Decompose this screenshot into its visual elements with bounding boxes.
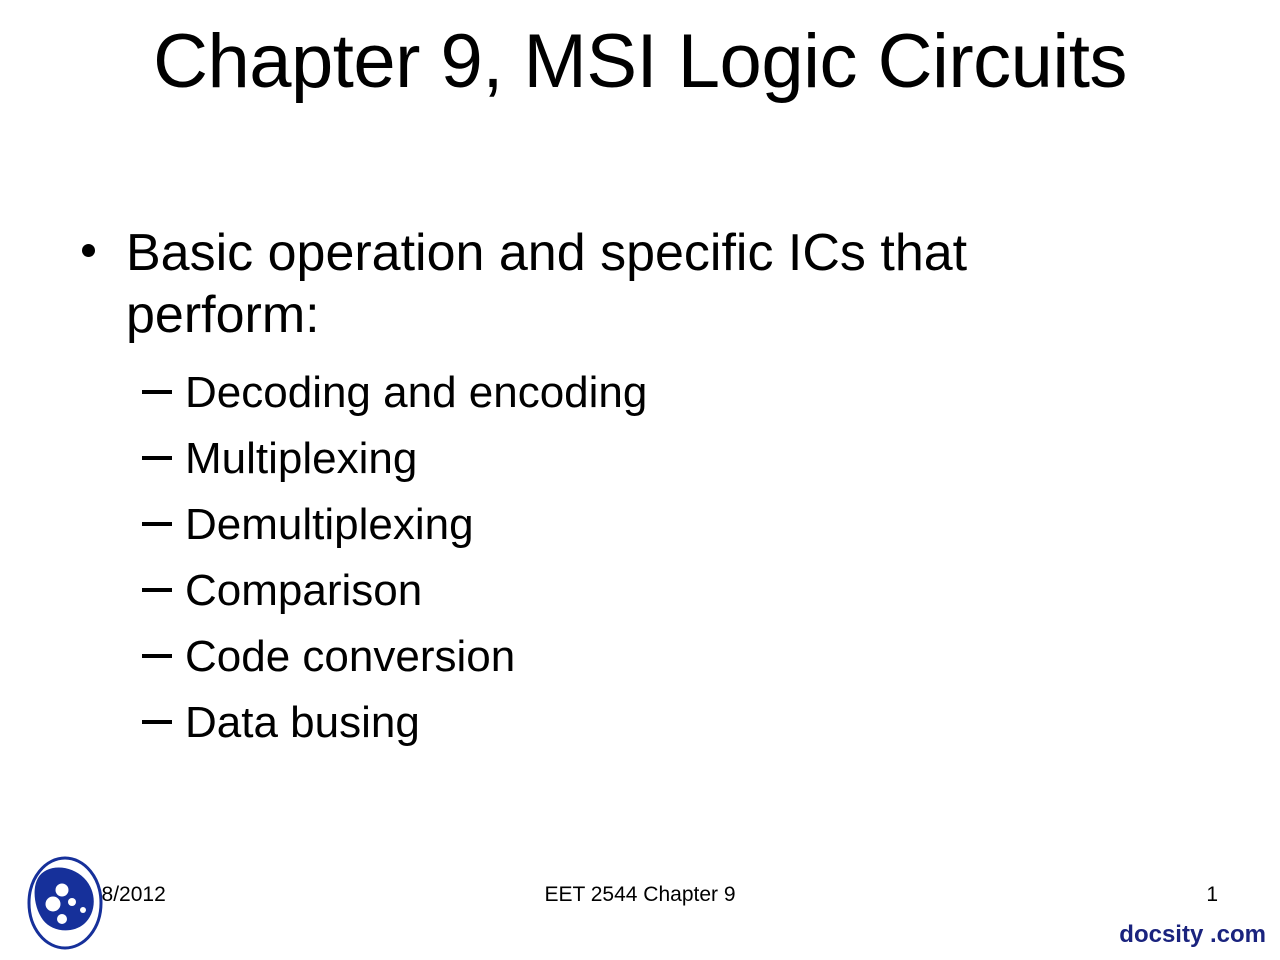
sub-bullet-text: Decoding and encoding	[185, 368, 647, 417]
sub-bullet-text: Demultiplexing	[185, 500, 474, 549]
docsity-watermark: docsity .com	[1119, 920, 1266, 950]
dash-icon	[142, 390, 172, 394]
slide-body: Basic operation and specific ICs that pe…	[68, 222, 1188, 756]
sub-bullet-code-conversion: Code conversion	[68, 624, 1188, 690]
dash-icon	[142, 456, 172, 460]
sub-bullet-text: Comparison	[185, 566, 422, 615]
sub-bullet-decoding: Decoding and encoding	[68, 360, 1188, 426]
footer-page-number: 1	[1206, 880, 1218, 910]
bullet-text: Basic operation and specific ICs that pe…	[126, 224, 967, 344]
sub-bullet-text: Multiplexing	[185, 434, 417, 483]
slide-footer: /18/2012 EET 2544 Chapter 9 1	[0, 880, 1280, 914]
dash-icon	[142, 654, 172, 658]
docsity-logo-icon	[26, 856, 104, 950]
sub-bullet-list: Decoding and encoding Multiplexing Demul…	[68, 360, 1188, 756]
bullet-dot-icon	[82, 244, 95, 257]
footer-course-label: EET 2544 Chapter 9	[0, 880, 1280, 910]
sub-bullet-text: Data busing	[185, 698, 420, 747]
dash-icon	[142, 588, 172, 592]
sub-bullet-multiplexing: Multiplexing	[68, 426, 1188, 492]
page-title: Chapter 9, MSI Logic Circuits	[60, 16, 1220, 108]
sub-bullet-comparison: Comparison	[68, 558, 1188, 624]
dash-icon	[142, 522, 172, 526]
sub-bullet-text: Code conversion	[185, 632, 515, 681]
sub-bullet-data-busing: Data busing	[68, 690, 1188, 756]
sub-bullet-demultiplexing: Demultiplexing	[68, 492, 1188, 558]
dash-icon	[142, 720, 172, 724]
slide-canvas: Chapter 9, MSI Logic Circuits Basic oper…	[0, 0, 1280, 960]
bullet-item-level1: Basic operation and specific ICs that pe…	[68, 222, 1116, 346]
